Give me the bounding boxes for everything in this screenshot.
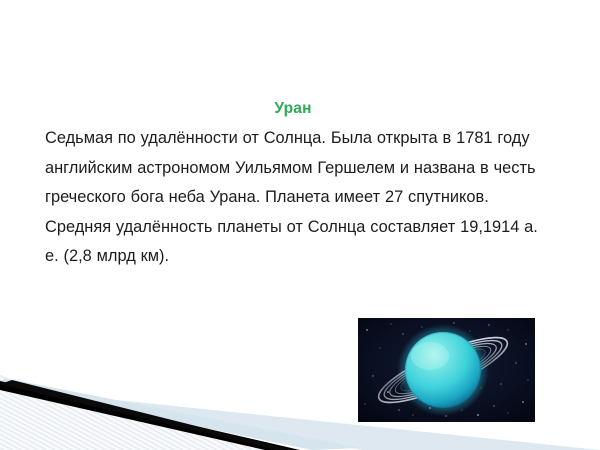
blue-wedge-upper — [0, 378, 360, 450]
page-title: Уран — [45, 99, 541, 119]
striped-triangle — [0, 375, 276, 450]
planet-highlight — [411, 342, 449, 370]
black-band — [0, 381, 300, 450]
body-paragraph: Седьмая по удалённости от Солнца. Была о… — [45, 124, 543, 272]
black-band-thin — [0, 380, 292, 450]
slide: Уран Седьмая по удалённости от Солнца. Б… — [0, 0, 600, 450]
uranus-image — [358, 318, 535, 422]
